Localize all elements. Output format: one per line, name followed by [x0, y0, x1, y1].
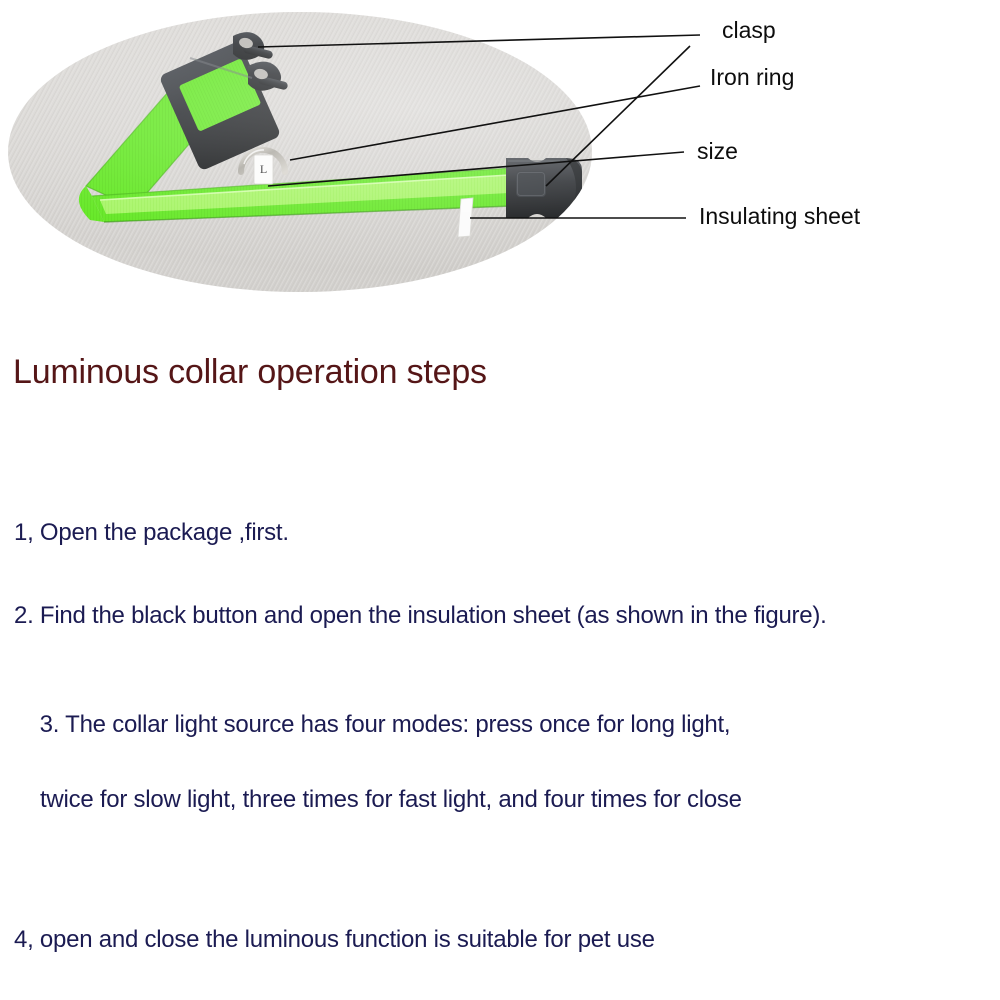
callout-label-clasp: clasp [722, 19, 776, 42]
oval-photo: L [0, 0, 1000, 300]
operation-steps-list: 1, Open the package ,first. 2. Find the … [14, 518, 974, 955]
product-diagram: L [0, 0, 1000, 300]
step-item-3-line2: twice for slow light, three times for fa… [14, 785, 974, 816]
step-item-3-line1: 3. The collar light source has four mode… [40, 711, 731, 738]
step-item-3: 3. The collar light source has four mode… [14, 679, 974, 876]
collar-photo-illustration: L [0, 0, 1000, 300]
step-item-4: 4, open and close the luminous function … [14, 925, 974, 956]
step-item-2: 2. Find the black button and open the in… [14, 601, 974, 632]
page-title: Luminous collar operation steps [13, 353, 487, 392]
callout-label-iron-ring: Iron ring [710, 66, 794, 89]
callout-label-insulating-sheet: Insulating sheet [699, 205, 860, 228]
callout-label-size: size [697, 140, 738, 163]
step-item-1: 1, Open the package ,first. [14, 518, 974, 549]
